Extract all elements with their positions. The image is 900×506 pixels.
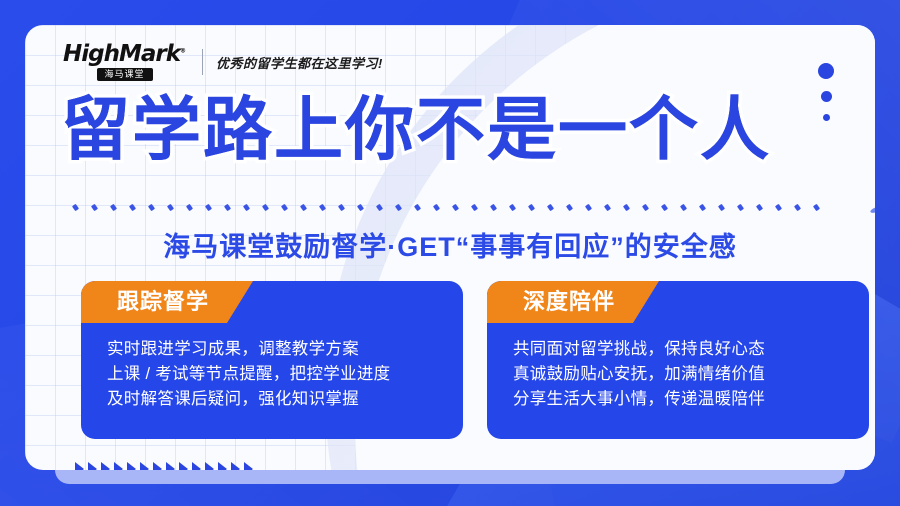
- dash-mark: [680, 203, 687, 210]
- dash-mark: [167, 203, 174, 210]
- dash-mark: [528, 203, 535, 210]
- triangle-right-icon: [244, 462, 253, 470]
- dash-mark: [623, 203, 630, 210]
- dash-mark: [110, 203, 117, 210]
- triangle-right-icon: [205, 462, 214, 470]
- dash-mark: [452, 203, 459, 210]
- panel-content: HighMark® 海马课堂 优秀的留学生都在这里学习! 留学路上你不是一个人 …: [25, 25, 875, 470]
- dash-mark: [224, 203, 231, 210]
- dash-mark: [262, 203, 269, 210]
- dash-mark: [338, 203, 345, 210]
- dash-mark: [395, 203, 402, 210]
- dash-mark: [566, 203, 573, 210]
- dash-mark: [756, 203, 763, 210]
- triangle-arrow-row: [75, 462, 253, 470]
- decorative-dot-column: [811, 63, 841, 133]
- dash-mark: [129, 203, 136, 210]
- logo-wordmark-text: HighMark: [63, 41, 180, 67]
- dash-mark: [319, 203, 326, 210]
- brand-tagline: 优秀的留学生都在这里学习!: [216, 53, 383, 72]
- triangle-right-icon: [88, 462, 97, 470]
- card-body-line: 及时解答课后疑问，强化知识掌握: [107, 387, 463, 412]
- triangle-right-icon: [127, 462, 136, 470]
- dash-mark: [585, 203, 592, 210]
- dash-mark: [300, 203, 307, 210]
- card-body-line: 上课 / 考试等节点提醒，把控学业进度: [107, 362, 463, 387]
- card-body-line: 真诚鼓励贴心安抚，加满情绪价值: [513, 362, 869, 387]
- dash-mark: [699, 203, 706, 210]
- dash-mark: [91, 203, 98, 210]
- card-body-companionship: 共同面对留学挑战，保持良好心态 真诚鼓励贴心安抚，加满情绪价值 分享生活大事小情…: [487, 323, 869, 412]
- triangle-right-icon: [218, 462, 227, 470]
- triangle-right-icon: [192, 462, 201, 470]
- card-body-line: 共同面对留学挑战，保持良好心态: [513, 337, 869, 362]
- dot-small-icon: [823, 114, 830, 121]
- card-tag-label: 深度陪伴: [487, 281, 659, 323]
- trademark-icon: ®: [180, 47, 186, 54]
- triangle-right-icon: [166, 462, 175, 470]
- dash-mark: [813, 203, 820, 210]
- dash-mark: [737, 203, 744, 210]
- logo-subtitle: 海马课堂: [97, 68, 153, 81]
- dash-mark: [718, 203, 725, 210]
- feature-card-companionship: 深度陪伴 共同面对留学挑战，保持良好心态 真诚鼓励贴心安抚，加满情绪价值 分享生…: [487, 281, 869, 439]
- triangle-right-icon: [231, 462, 240, 470]
- dash-mark: [604, 203, 611, 210]
- dash-mark: [205, 203, 212, 210]
- white-content-panel: HighMark® 海马课堂 优秀的留学生都在这里学习! 留学路上你不是一个人 …: [25, 25, 875, 470]
- swoosh-mark-icon: [870, 205, 875, 214]
- triangle-right-icon: [114, 462, 123, 470]
- dash-mark: [433, 203, 440, 210]
- page-subtitle: 海马课堂鼓励督学·GET“事事有回应”的安全感: [25, 225, 875, 264]
- triangle-right-icon: [101, 462, 110, 470]
- dash-mark: [794, 203, 801, 210]
- dash-mark: [148, 203, 155, 210]
- dash-mark: [281, 203, 288, 210]
- dash-mark: [661, 203, 668, 210]
- dashed-divider: [71, 199, 861, 215]
- dash-mark: [376, 203, 383, 210]
- dot-medium-icon: [821, 91, 832, 102]
- dot-large-icon: [818, 63, 834, 79]
- feature-card-group: 跟踪督学 实时跟进学习成果，调整教学方案 上课 / 考试等节点提醒，把控学业进度…: [81, 281, 869, 439]
- dash-mark: [243, 203, 250, 210]
- dash-mark: [509, 203, 516, 210]
- header-divider: [202, 49, 203, 75]
- triangle-right-icon: [153, 462, 162, 470]
- page-title: 留学路上你不是一个人: [61, 95, 851, 164]
- dash-mark: [490, 203, 497, 210]
- dash-mark: [186, 203, 193, 210]
- dash-mark: [547, 203, 554, 210]
- highmark-logo: HighMark® 海马课堂: [63, 43, 186, 81]
- feature-card-tracking: 跟踪督学 实时跟进学习成果，调整教学方案 上课 / 考试等节点提醒，把控学业进度…: [81, 281, 463, 439]
- card-body-tracking: 实时跟进学习成果，调整教学方案 上课 / 考试等节点提醒，把控学业进度 及时解答…: [81, 323, 463, 412]
- triangle-right-icon: [179, 462, 188, 470]
- card-body-line: 分享生活大事小情，传递温暖陪伴: [513, 387, 869, 412]
- poster-canvas: HighMark® 海马课堂 优秀的留学生都在这里学习! 留学路上你不是一个人 …: [0, 0, 900, 506]
- dash-mark: [72, 203, 79, 210]
- dash-mark: [642, 203, 649, 210]
- triangle-right-icon: [140, 462, 149, 470]
- card-tag-label: 跟踪督学: [81, 281, 253, 323]
- brand-header: HighMark® 海马课堂 优秀的留学生都在这里学习!: [63, 39, 383, 85]
- dash-mark: [357, 203, 364, 210]
- dash-mark: [414, 203, 421, 210]
- logo-wordmark: HighMark®: [63, 43, 186, 66]
- triangle-right-icon: [75, 462, 84, 470]
- dash-mark: [775, 203, 782, 210]
- dash-mark: [471, 203, 478, 210]
- card-body-line: 实时跟进学习成果，调整教学方案: [107, 337, 463, 362]
